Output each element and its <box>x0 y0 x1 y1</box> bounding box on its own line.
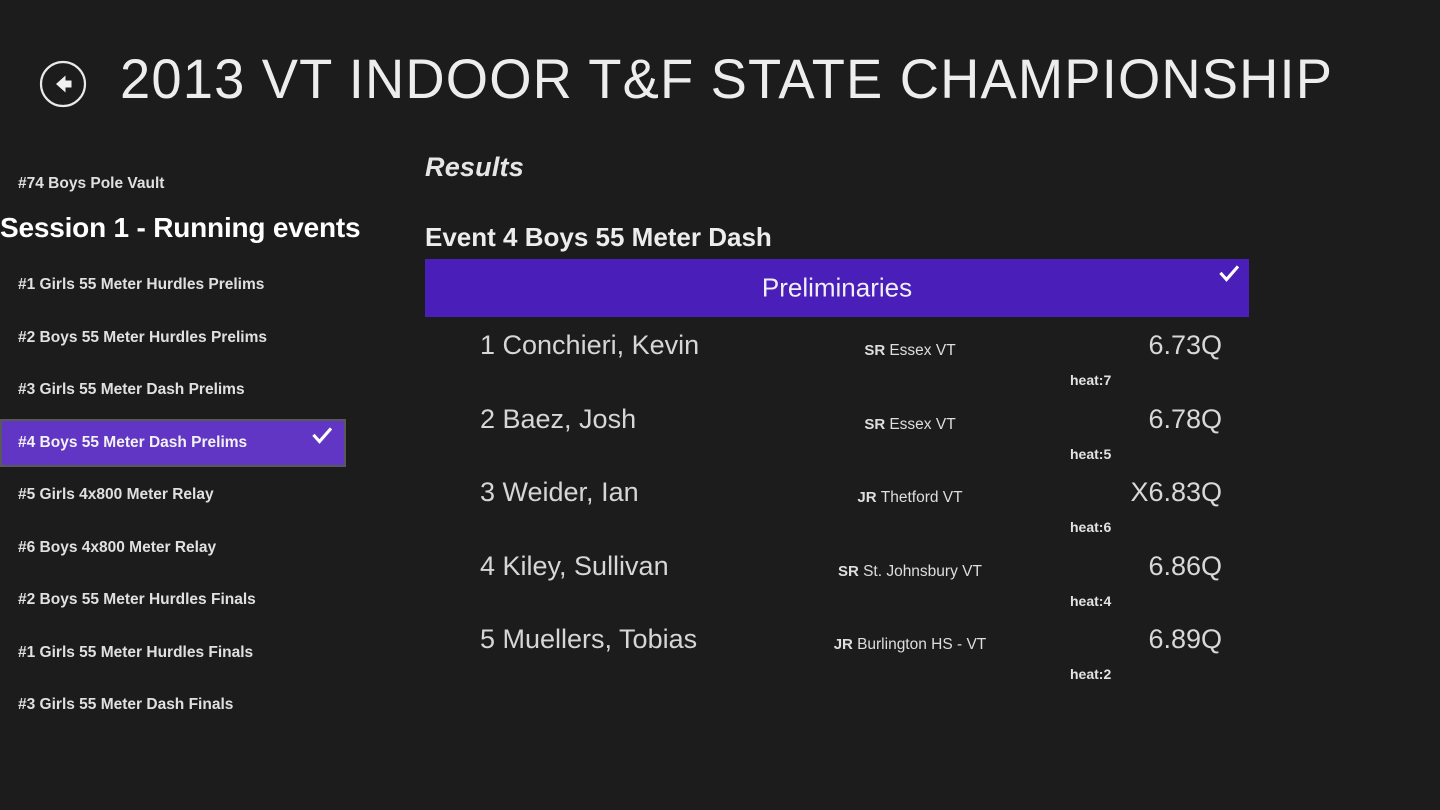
sidebar-item-label: #2 Boys 55 Meter Hurdles Finals <box>18 591 256 609</box>
sidebar-item-event-3[interactable]: #3 Girls 55 Meter Dash Prelims <box>0 371 400 409</box>
result-team: JR Burlington HS - VT <box>755 636 1065 654</box>
result-team: SR Essex VT <box>755 416 1065 434</box>
sidebar-item-event-8[interactable]: #1 Girls 55 Meter Hurdles Finals <box>0 634 400 672</box>
result-mark: 6.78Q <box>1148 404 1222 435</box>
result-school: Essex VT <box>889 342 955 359</box>
result-year: JR <box>857 489 876 506</box>
sidebar-item-label: #1 Girls 55 Meter Hurdles Finals <box>18 644 253 662</box>
event-title: Event 4 Boys 55 Meter Dash <box>425 222 772 253</box>
main-content: Results Event 4 Boys 55 Meter Dash Preli… <box>425 140 1440 810</box>
result-team: SR Essex VT <box>755 342 1065 360</box>
sidebar-item-event-9[interactable]: #3 Girls 55 Meter Dash Finals <box>0 686 400 724</box>
table-row[interactable]: 2 Baez, Josh SR Essex VT 6.78Q heat:5 <box>425 400 1249 474</box>
result-mark: 6.73Q <box>1148 330 1222 361</box>
result-school: Essex VT <box>889 416 955 433</box>
sidebar-item-label: #5 Girls 4x800 Meter Relay <box>18 486 214 504</box>
app-header: 2013 VT INDOOR T&F STATE CHAMPIONSHIP <box>0 0 1440 140</box>
result-year: JR <box>834 636 853 653</box>
sidebar-event-list: #1 Girls 55 Meter Hurdles Prelims #2 Boy… <box>0 266 400 739</box>
result-place-name: 5 Muellers, Tobias <box>480 624 697 655</box>
page-title: 2013 VT INDOOR T&F STATE CHAMPIONSHIP <box>120 47 1333 111</box>
results-section-label: Results <box>425 152 524 183</box>
result-place-name: 4 Kiley, Sullivan <box>480 551 669 582</box>
sidebar-item-event-7[interactable]: #2 Boys 55 Meter Hurdles Finals <box>0 581 400 619</box>
result-team: JR Thetford VT <box>755 489 1065 507</box>
back-button[interactable] <box>38 59 88 109</box>
result-place-name: 1 Conchieri, Kevin <box>480 330 699 361</box>
round-tab-preliminaries[interactable]: Preliminaries <box>425 259 1249 317</box>
sidebar-session-header: Session 1 - Running events <box>0 212 360 244</box>
result-year: SR <box>864 342 885 359</box>
result-heat: heat:5 <box>1070 446 1111 462</box>
checkmark-icon <box>1219 264 1239 284</box>
result-year: SR <box>838 563 859 580</box>
result-heat: heat:4 <box>1070 593 1111 609</box>
sidebar-item-label: #2 Boys 55 Meter Hurdles Prelims <box>18 329 267 347</box>
results-table: 1 Conchieri, Kevin SR Essex VT 6.73Q hea… <box>425 326 1249 694</box>
sidebar-item-previous-event[interactable]: #74 Boys Pole Vault <box>18 175 164 193</box>
result-school: St. Johnsbury VT <box>863 563 982 580</box>
result-heat: heat:6 <box>1070 519 1111 535</box>
result-school: Burlington HS - VT <box>857 636 986 653</box>
result-mark: 6.86Q <box>1148 551 1222 582</box>
result-heat: heat:7 <box>1070 372 1111 388</box>
sidebar-item-event-4-selected[interactable]: #4 Boys 55 Meter Dash Prelims <box>0 419 346 467</box>
sidebar: #74 Boys Pole Vault Session 1 - Running … <box>0 160 400 810</box>
sidebar-item-event-1[interactable]: #1 Girls 55 Meter Hurdles Prelims <box>0 266 400 304</box>
sidebar-item-label: #3 Girls 55 Meter Dash Finals <box>18 696 233 714</box>
round-tab-label: Preliminaries <box>425 273 1249 304</box>
sidebar-item-label: #6 Boys 4x800 Meter Relay <box>18 539 216 557</box>
table-row[interactable]: 5 Muellers, Tobias JR Burlington HS - VT… <box>425 620 1249 694</box>
table-row[interactable]: 1 Conchieri, Kevin SR Essex VT 6.73Q hea… <box>425 326 1249 400</box>
back-arrow-circle-icon <box>38 59 88 109</box>
sidebar-item-label: #3 Girls 55 Meter Dash Prelims <box>18 381 245 399</box>
result-year: SR <box>864 416 885 433</box>
result-mark: X6.83Q <box>1130 477 1222 508</box>
table-row[interactable]: 3 Weider, Ian JR Thetford VT X6.83Q heat… <box>425 473 1249 547</box>
sidebar-item-event-5[interactable]: #5 Girls 4x800 Meter Relay <box>0 476 400 514</box>
result-team: SR St. Johnsbury VT <box>755 563 1065 581</box>
result-heat: heat:2 <box>1070 666 1111 682</box>
result-school: Thetford VT <box>881 489 963 506</box>
sidebar-item-event-6[interactable]: #6 Boys 4x800 Meter Relay <box>0 529 400 567</box>
sidebar-item-label: #1 Girls 55 Meter Hurdles Prelims <box>18 276 264 294</box>
sidebar-item-event-2[interactable]: #2 Boys 55 Meter Hurdles Prelims <box>0 319 400 357</box>
sidebar-item-label: #4 Boys 55 Meter Dash Prelims <box>18 434 247 452</box>
result-mark: 6.89Q <box>1148 624 1222 655</box>
result-place-name: 3 Weider, Ian <box>480 477 639 508</box>
result-place-name: 2 Baez, Josh <box>480 404 636 435</box>
table-row[interactable]: 4 Kiley, Sullivan SR St. Johnsbury VT 6.… <box>425 547 1249 621</box>
checkmark-icon <box>312 426 332 446</box>
